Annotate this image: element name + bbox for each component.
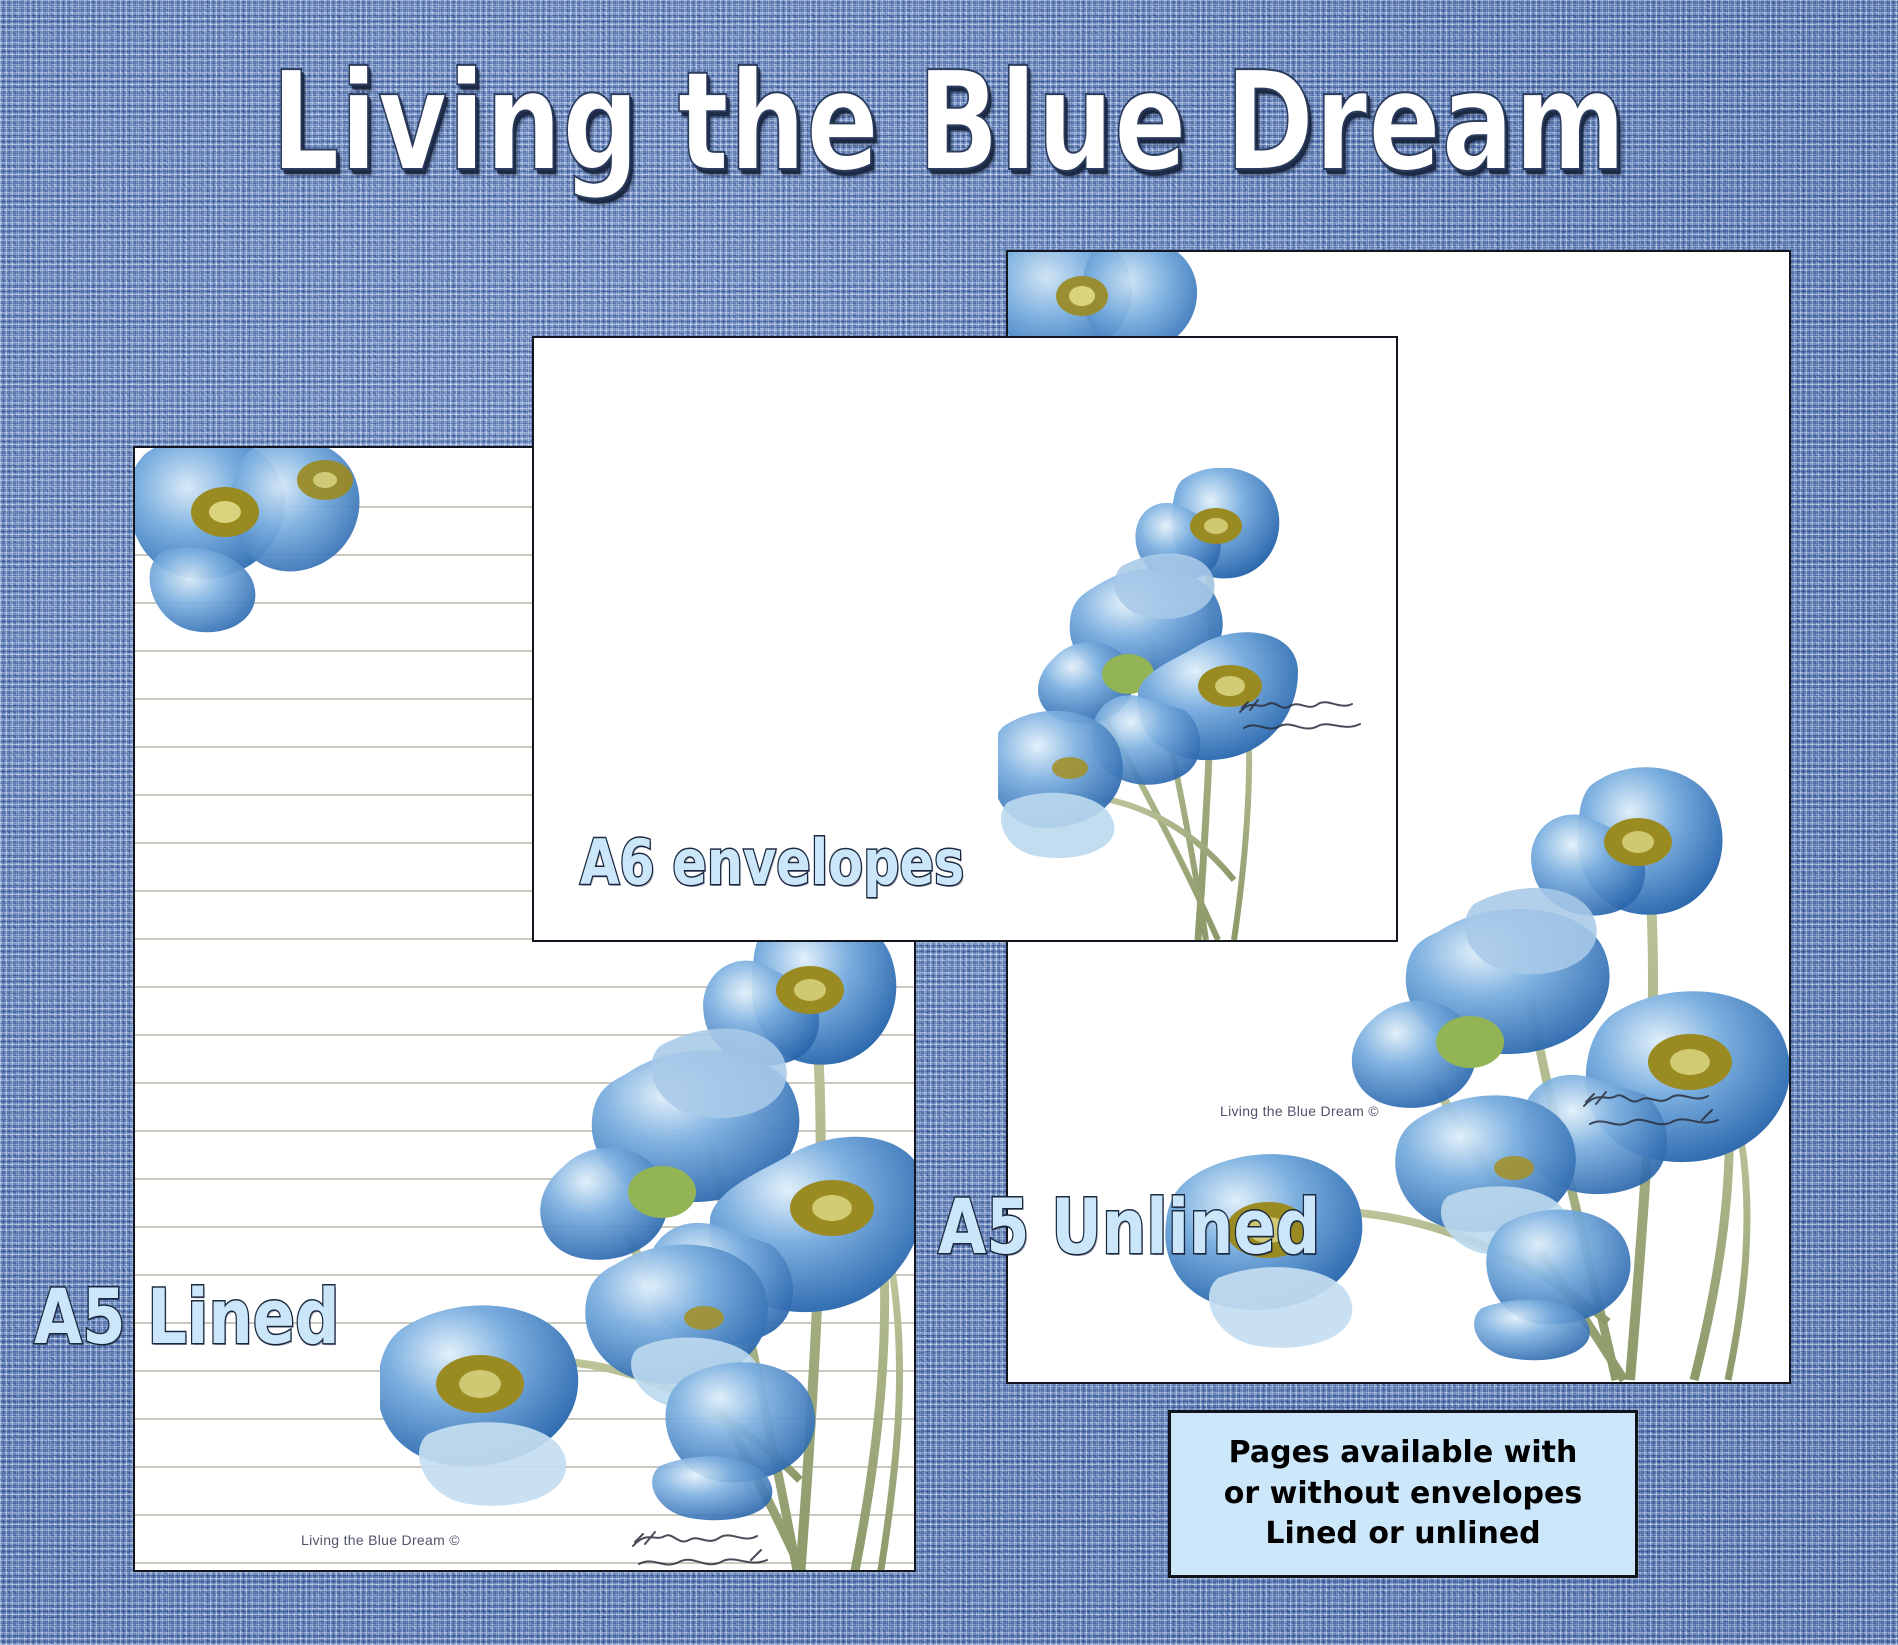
ruled-line	[135, 1130, 914, 1132]
ruled-line	[135, 1178, 914, 1180]
sheet-copyright: Living the Blue Dream ©	[1220, 1103, 1379, 1119]
ruled-line	[135, 1370, 914, 1372]
ruled-line	[135, 986, 914, 988]
info-box-line-2: or without envelopes	[1224, 1474, 1582, 1515]
poppy-artwork-right	[998, 468, 1298, 942]
artist-signature	[627, 1520, 787, 1572]
poppy-artwork-bottom-right	[380, 914, 916, 1572]
poster-canvas: Living the Blue Dream	[0, 0, 1898, 1645]
ruled-line	[135, 1418, 914, 1420]
ruled-line	[135, 1514, 914, 1516]
label-a6-envelopes: A6 envelopes	[580, 826, 964, 899]
ruled-line	[135, 1562, 914, 1564]
ruled-line	[135, 1082, 914, 1084]
ruled-line	[135, 1226, 914, 1228]
info-box-line-3: Lined or unlined	[1265, 1514, 1540, 1555]
ruled-line	[135, 1466, 914, 1468]
artist-signature	[1578, 1080, 1738, 1146]
label-a5-lined: A5 Lined	[34, 1272, 340, 1361]
ruled-line	[135, 1034, 914, 1036]
poppy-artwork-top-left	[133, 446, 369, 660]
sheet-copyright: Living the Blue Dream ©	[301, 1532, 460, 1548]
artist-signature	[1234, 690, 1374, 748]
info-box-line-1: Pages available with	[1229, 1433, 1578, 1474]
label-a5-unlined: A5 Unlined	[938, 1182, 1320, 1271]
info-box: Pages available with or without envelope…	[1168, 1410, 1638, 1578]
page-title: Living the Blue Dream	[209, 54, 1689, 191]
